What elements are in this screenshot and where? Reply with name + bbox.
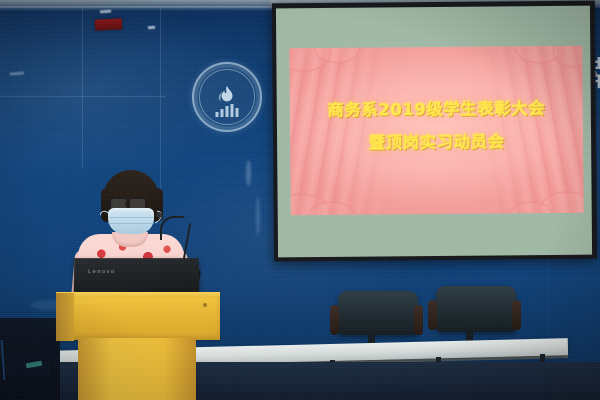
wall-white-mark-2 (148, 26, 155, 29)
photo-scene: 、 南 OLLE Redleaf 商务系2019级学生表彰大会 暨顶岗实习动员会 (0, 0, 600, 400)
emblem-bars-icon (216, 104, 239, 117)
wall-upper-band (0, 6, 280, 11)
slide-title-line-2: 暨顶岗实习动员会 (290, 132, 583, 155)
mask-fold-1 (108, 217, 154, 218)
chair-armrest-right (512, 300, 521, 330)
microphone-head (156, 212, 162, 218)
chair-back (436, 286, 516, 332)
wall-seam-horizontal-1 (0, 96, 166, 97)
school-emblem (192, 62, 262, 132)
surgical-mask (108, 208, 154, 234)
mask-fold-2 (108, 223, 154, 224)
office-chair-right (428, 286, 520, 338)
projection-screen: 商务系2019级学生表彰大会 暨顶岗实习动员会 (272, 1, 597, 262)
eyeglasses-bridge (125, 203, 130, 205)
podium-column (78, 338, 196, 400)
wall-scuff-1 (246, 160, 251, 186)
podium-fastener (203, 303, 207, 307)
presentation-slide: 商务系2019级学生表彰大会 暨顶岗实习动员会 (289, 46, 583, 216)
microphone-gooseneck (160, 216, 184, 240)
wall-scuff-2 (256, 196, 260, 236)
laptop-brand-label: Lenovo (88, 269, 116, 275)
chair-back (338, 291, 418, 335)
podium-desktop (56, 297, 220, 340)
emblem-flame-icon (216, 84, 238, 106)
chair-armrest-right (414, 305, 423, 335)
office-chair-left (330, 291, 422, 343)
podium-side-panel (56, 293, 74, 341)
slide-title-line-1: 商务系2019级学生表彰大会 (290, 99, 583, 122)
slide-title-block: 商务系2019级学生表彰大会 暨顶岗实习动员会 (290, 99, 583, 155)
wall-seam-vertical-1 (82, 8, 83, 168)
chair-armrest-left (428, 300, 437, 330)
chair-armrest-left (330, 305, 339, 335)
red-wall-sticker (95, 18, 123, 30)
projection-screen-surface: 商务系2019级学生表彰大会 暨顶岗实习动员会 (276, 6, 592, 258)
